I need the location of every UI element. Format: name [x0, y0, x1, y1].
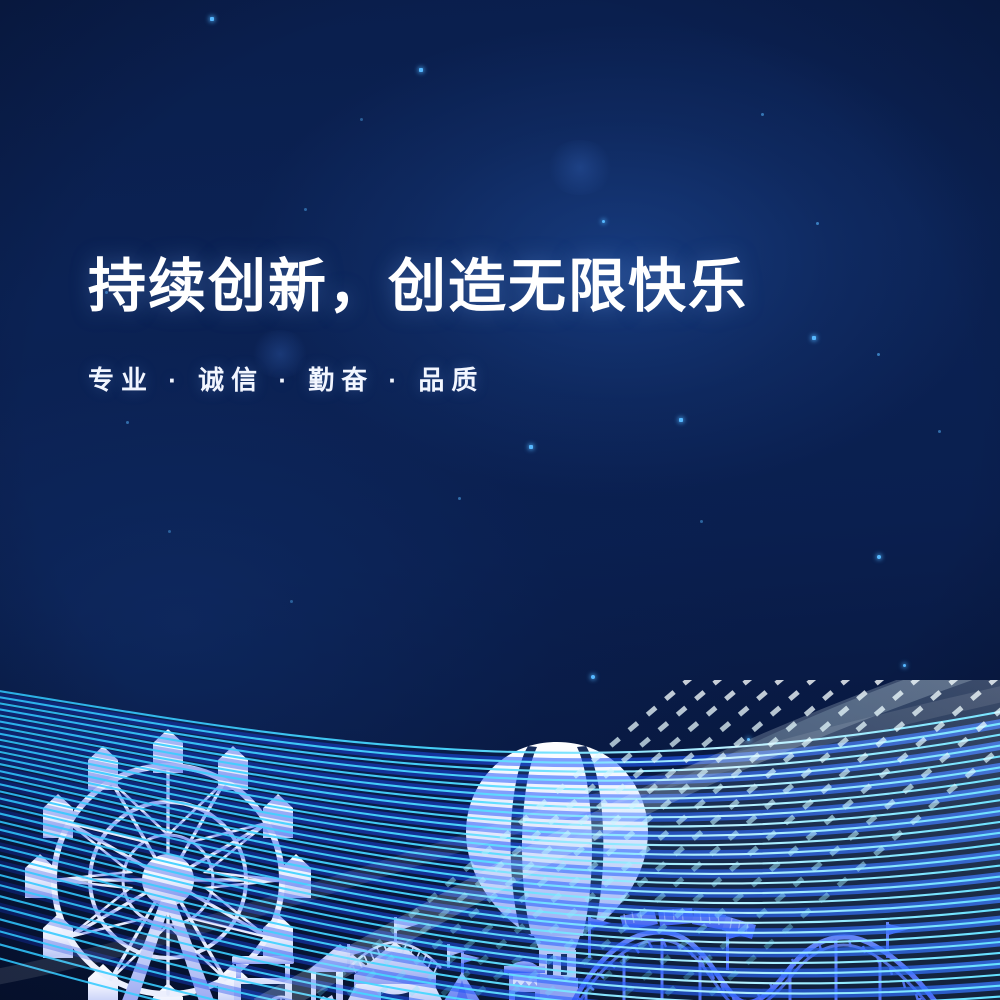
- neon-wave-graphic: [0, 680, 1000, 1000]
- banner-canvas: 持续创新，创造无限快乐 专业 · 诚信 · 勤奋 · 品质: [0, 0, 1000, 1000]
- page-title: 持续创新，创造无限快乐: [88, 258, 748, 316]
- hero-subtitle: 专业 · 诚信 · 勤奋 · 品质: [88, 360, 748, 397]
- hero-copy: 持续创新，创造无限快乐 专业 · 诚信 · 勤奋 · 品质: [88, 258, 748, 397]
